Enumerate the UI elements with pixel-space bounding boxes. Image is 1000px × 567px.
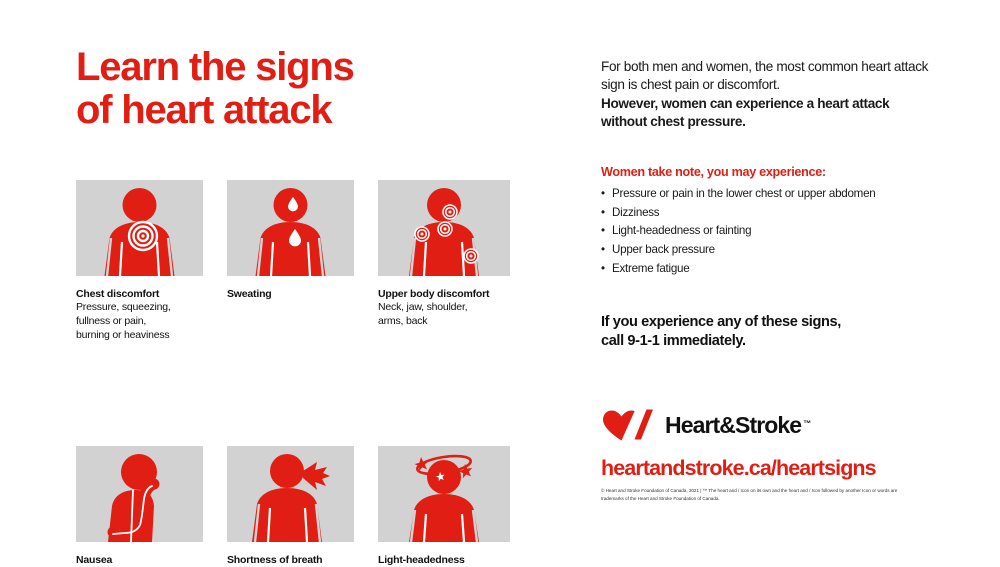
sign-tile-shortness-of-breath: Shortness of breath	[227, 446, 354, 567]
torso-with-sweat-droplets-icon	[227, 180, 354, 276]
intro-paragraph: For both men and women, the most common …	[601, 58, 936, 131]
sign-tile-description: Pressure, squeezing, fullness or pain, b…	[76, 301, 203, 343]
light-headedness-thumbnail	[378, 446, 510, 542]
wordmark-text: Heart&Stroke	[665, 412, 801, 438]
sign-tile-light-headedness: Light-headedness	[378, 446, 510, 567]
infographic-page: Learn the signs of heart attack	[0, 0, 1000, 562]
call-911-message: If you experience any of these signs, ca…	[601, 313, 936, 351]
sign-tile-title: Nausea	[76, 554, 203, 567]
list-item: Pressure or pain in the lower chest or u…	[601, 185, 936, 204]
torso-with-multiple-targets-icon	[378, 180, 510, 276]
sign-tile-description: Neck, jaw, shoulder, arms, back	[378, 301, 510, 329]
sign-tile-title: Shortness of breath	[227, 554, 354, 567]
sign-tile-sweating: Sweating	[227, 180, 354, 343]
heart-and-stroke-logo: Heart&Stroke™	[601, 408, 941, 442]
sign-tile-title: Chest discomfort	[76, 288, 203, 301]
torso-with-dizzy-orbit-stars-icon	[378, 446, 510, 542]
trademark-symbol: ™	[803, 419, 811, 428]
sign-tile-title: Upper body discomfort	[378, 288, 510, 301]
headline-block: Learn the signs of heart attack	[76, 46, 546, 132]
copyright-notice: © Heart and Stroke Foundation of Canada,…	[601, 487, 901, 502]
sweating-thumbnail	[227, 180, 354, 276]
intro-bold-text: However, women can experience a heart at…	[601, 95, 936, 131]
heart-and-stroke-wordmark: Heart&Stroke™	[665, 412, 811, 439]
torso-with-breath-puff-icon	[227, 446, 354, 542]
profile-hand-to-mouth-icon	[76, 446, 203, 542]
sign-tile-title: Sweating	[227, 288, 354, 301]
list-item: Dizziness	[601, 204, 936, 223]
list-item: Light-headedness or fainting	[601, 222, 936, 241]
sign-tile-upper-body-discomfort: Upper body discomfort Neck, jaw, shoulde…	[378, 180, 510, 343]
upper-body-discomfort-thumbnail	[378, 180, 510, 276]
chest-discomfort-thumbnail	[76, 180, 203, 276]
signs-row-bottom: Nausea Shortness of breath	[76, 446, 546, 567]
campaign-url[interactable]: heartandstroke.ca/heartsigns	[601, 456, 941, 481]
list-item: Upper back pressure	[601, 241, 936, 260]
heart-slash-logo-icon	[601, 408, 663, 442]
sign-tile-title: Light-headedness	[378, 554, 510, 567]
information-panel: For both men and women, the most common …	[601, 58, 936, 351]
sign-tile-nausea: Nausea	[76, 446, 203, 567]
torso-with-chest-target-icon	[76, 180, 203, 276]
shortness-of-breath-thumbnail	[227, 446, 354, 542]
page-title: Learn the signs of heart attack	[76, 46, 416, 132]
sign-tile-chest-discomfort: Chest discomfort Pressure, squeezing, fu…	[76, 180, 203, 343]
signs-row-top: Chest discomfort Pressure, squeezing, fu…	[76, 180, 546, 343]
nausea-thumbnail	[76, 446, 203, 542]
women-take-note-heading: Women take note, you may experience:	[601, 165, 936, 179]
womens-symptoms-list: Pressure or pain in the lower chest or u…	[601, 185, 936, 279]
list-item: Extreme fatigue	[601, 260, 936, 279]
intro-regular-text: For both men and women, the most common …	[601, 59, 928, 92]
brand-footer: Heart&Stroke™ heartandstroke.ca/heartsig…	[601, 408, 941, 502]
signs-grid: Chest discomfort Pressure, squeezing, fu…	[76, 180, 546, 567]
